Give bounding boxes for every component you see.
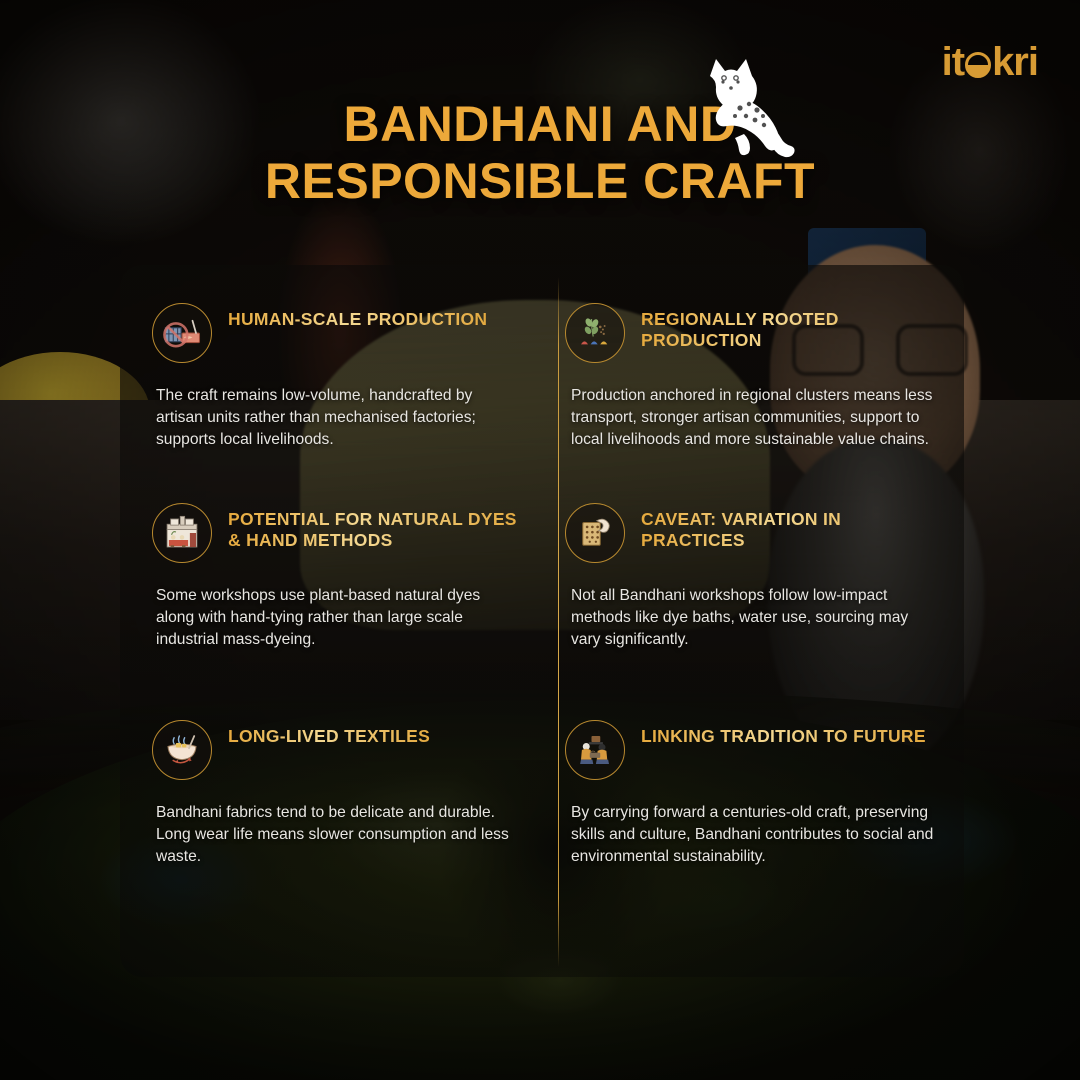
title-line-2: RESPONSIBLE CRAFT <box>160 153 920 210</box>
logo-text-part2: kri <box>992 42 1038 82</box>
card-body: Production anchored in regional clusters… <box>565 385 940 451</box>
card-title: LONG-LIVED TEXTILES <box>228 720 430 747</box>
card-caveat-variation-in-practices: CAVEAT: VARIATION IN PRACTICES Not all B… <box>539 465 964 674</box>
workshop-building-icon <box>152 503 212 563</box>
no-factory-machine-icon <box>152 303 212 363</box>
card-title: LINKING TRADITION TO FUTURE <box>641 720 926 747</box>
card-header: REGIONALLY ROOTED PRODUCTION <box>565 265 940 363</box>
steaming-dye-pot-icon <box>152 720 212 780</box>
two-artisans-working-icon <box>565 720 625 780</box>
card-title: POTENTIAL FOR NATURAL DYES & HAND METHOD… <box>228 503 520 552</box>
card-regionally-rooted-production: REGIONALLY ROOTED PRODUCTION Production … <box>539 265 964 465</box>
card-long-lived-textiles: LONG-LIVED TEXTILES Bandhani fabrics ten… <box>120 674 538 977</box>
itokri-logo[interactable]: itkri <box>942 42 1038 82</box>
card-header: LINKING TRADITION TO FUTURE <box>565 674 940 780</box>
plant-sprig-dye-powder-icon <box>565 303 625 363</box>
card-body: By carrying forward a centuries-old craf… <box>565 802 940 868</box>
card-human-scale-production: HUMAN-SCALE PRODUCTION The craft remains… <box>120 265 538 465</box>
hand-holding-patterned-fabric-icon <box>565 503 625 563</box>
infographic-poster: itkri BANDHANI AND RESPONSIBLE CRAFT <box>0 0 1080 1080</box>
card-title: HUMAN-SCALE PRODUCTION <box>228 303 487 330</box>
card-body: Some workshops use plant-based natural d… <box>152 585 520 651</box>
content-panel: HUMAN-SCALE PRODUCTION The craft remains… <box>120 265 964 977</box>
logo-basket-icon <box>965 52 991 78</box>
card-header: HUMAN-SCALE PRODUCTION <box>152 265 520 363</box>
title-line-1: BANDHANI AND <box>160 96 920 153</box>
card-natural-dyes-hand-methods: POTENTIAL FOR NATURAL DYES & HAND METHOD… <box>120 465 538 674</box>
card-title: CAVEAT: VARIATION IN PRACTICES <box>641 503 940 552</box>
card-body: Bandhani fabrics tend to be delicate and… <box>152 802 520 868</box>
card-header: CAVEAT: VARIATION IN PRACTICES <box>565 465 940 563</box>
card-header: POTENTIAL FOR NATURAL DYES & HAND METHOD… <box>152 465 520 563</box>
logo-text-part1: it <box>942 42 964 82</box>
card-body: The craft remains low-volume, handcrafte… <box>152 385 520 451</box>
card-title: REGIONALLY ROOTED PRODUCTION <box>641 303 940 352</box>
page-title: BANDHANI AND RESPONSIBLE CRAFT <box>0 96 1080 210</box>
card-linking-tradition-to-future: LINKING TRADITION TO FUTURE By carrying … <box>539 674 964 977</box>
card-body: Not all Bandhani workshops follow low-im… <box>565 585 940 651</box>
card-header: LONG-LIVED TEXTILES <box>152 674 520 780</box>
